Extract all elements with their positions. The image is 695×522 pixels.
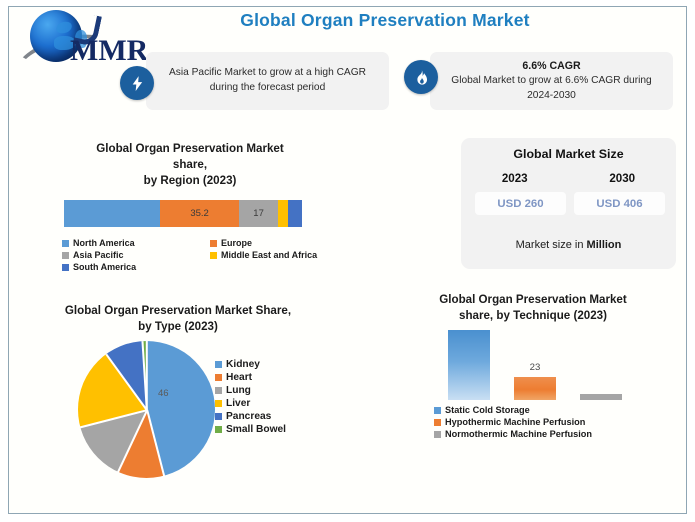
region-bar-segment xyxy=(64,200,160,227)
market-size-value-2023: USD 260 xyxy=(475,192,566,215)
legend-swatch xyxy=(210,252,217,259)
legend-swatch xyxy=(62,264,69,271)
market-size-title: Global Market Size xyxy=(461,147,676,161)
technique-chart-title: Global Organ Preservation Market share, … xyxy=(388,292,678,324)
logo-text: MMR xyxy=(70,34,148,68)
legend-label: North America xyxy=(73,238,135,248)
pie-slice-divider xyxy=(146,409,165,476)
highlight-text-2: Global Market to grow at 6.6% CAGR durin… xyxy=(438,74,665,104)
technique-bar-value: 23 xyxy=(514,362,556,373)
pie-slice-divider xyxy=(117,409,148,472)
mmr-logo: MMR xyxy=(14,8,144,70)
type-legend: KidneyHeartLungLiverPancreasSmall Bowel xyxy=(215,359,335,437)
legend-swatch xyxy=(215,361,222,368)
legend-item: South America xyxy=(62,262,210,272)
legend-label: Normothermic Machine Perfusion xyxy=(445,429,592,439)
pie-slice-divider xyxy=(80,409,147,428)
legend-item: Hypothermic Machine Perfusion xyxy=(434,417,664,427)
type-chart-title: Global Organ Preservation Market Share, … xyxy=(22,303,334,335)
market-size-unit: Million xyxy=(587,239,622,251)
legend-label: Kidney xyxy=(226,359,260,370)
market-size-footer-prefix: Market size in xyxy=(516,239,587,251)
region-bar-segment xyxy=(288,200,302,227)
legend-swatch xyxy=(215,400,222,407)
legend-item: Kidney xyxy=(215,359,335,370)
region-bar-segment: 17 xyxy=(239,200,277,227)
highlight-box-asia-pacific: Asia Pacific Market to grow at a high CA… xyxy=(146,52,389,110)
legend-item: Small Bowel xyxy=(215,424,335,435)
technique-bar xyxy=(448,330,490,400)
highlight-text-1: Asia Pacific Market to grow at a high CA… xyxy=(154,66,381,96)
legend-item: Europe xyxy=(210,238,332,248)
legend-swatch xyxy=(215,387,222,394)
legend-swatch xyxy=(215,426,222,433)
page-title: Global Organ Preservation Market xyxy=(150,10,620,31)
legend-label: Middle East and Africa xyxy=(221,250,317,260)
legend-swatch xyxy=(210,240,217,247)
legend-item: Static Cold Storage xyxy=(434,405,664,415)
technique-bar xyxy=(514,377,556,400)
legend-label: South America xyxy=(73,262,136,272)
legend-label: Lung xyxy=(226,385,251,396)
legend-label: Static Cold Storage xyxy=(445,405,530,415)
legend-swatch xyxy=(434,431,441,438)
market-size-year-2023: 2023 xyxy=(461,172,569,185)
technique-bar-chart: 23 xyxy=(440,330,660,400)
technique-bar xyxy=(580,394,622,400)
legend-item: North America xyxy=(62,238,210,248)
legend-label: Asia Pacific xyxy=(73,250,124,260)
global-market-size-panel: Global Market Size 2023 2030 USD 260 USD… xyxy=(461,138,676,269)
region-chart-title: Global Organ Preservation Market share, … xyxy=(40,141,340,189)
legend-item: Asia Pacific xyxy=(62,250,210,260)
market-size-year-2030: 2030 xyxy=(569,172,677,185)
market-size-value-2030: USD 406 xyxy=(574,192,665,215)
flame-icon xyxy=(404,60,438,94)
legend-label: Liver xyxy=(226,398,250,409)
infographic-canvas: MMR Global Organ Preservation Market Asi… xyxy=(0,0,695,522)
legend-item: Lung xyxy=(215,385,335,396)
legend-swatch xyxy=(434,407,441,414)
legend-swatch xyxy=(215,374,222,381)
type-pie-chart xyxy=(78,341,215,478)
market-size-footer: Market size in Million xyxy=(461,239,676,251)
technique-legend: Static Cold StorageHypothermic Machine P… xyxy=(434,405,664,441)
legend-item: Pancreas xyxy=(215,411,335,422)
legend-label: Hypothermic Machine Perfusion xyxy=(445,417,585,427)
region-bar-segment: 35.2 xyxy=(160,200,240,227)
region-legend: North AmericaEuropeAsia PacificMiddle Ea… xyxy=(62,238,332,274)
legend-swatch xyxy=(62,240,69,247)
region-bar-segment xyxy=(278,200,288,227)
region-stacked-bar: 35.217 xyxy=(64,200,302,227)
legend-item: Heart xyxy=(215,372,335,383)
legend-label: Small Bowel xyxy=(226,424,286,435)
lightning-bolt-icon xyxy=(120,66,154,100)
legend-label: Heart xyxy=(226,372,252,383)
legend-swatch xyxy=(62,252,69,259)
legend-item: Middle East and Africa xyxy=(210,250,332,260)
pie-slice-divider xyxy=(106,354,148,410)
cagr-value: 6.6% CAGR xyxy=(522,59,580,74)
legend-label: Pancreas xyxy=(226,411,271,422)
legend-item: Liver xyxy=(215,398,335,409)
legend-swatch xyxy=(215,413,222,420)
legend-label: Europe xyxy=(221,238,252,248)
legend-item: Normothermic Machine Perfusion xyxy=(434,429,664,439)
legend-swatch xyxy=(434,419,441,426)
pie-value-kidney: 46 xyxy=(158,388,169,399)
highlight-box-cagr: 6.6% CAGR Global Market to grow at 6.6% … xyxy=(430,52,673,110)
